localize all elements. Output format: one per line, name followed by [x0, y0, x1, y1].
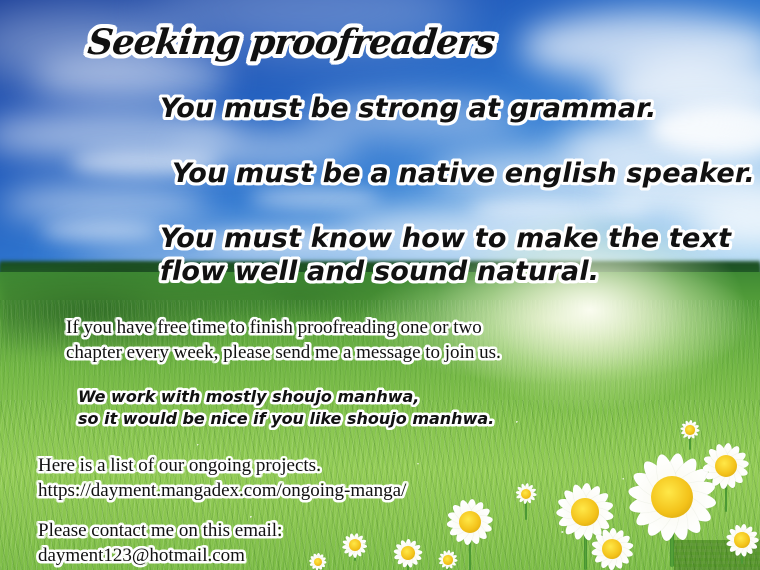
genre-note: We work with mostly shoujo manhwa, so it…	[78, 386, 494, 430]
page-title: Seeking proofreaders	[86, 22, 497, 63]
commitment-paragraph: If you have free time to finish proofrea…	[66, 315, 501, 365]
poster-canvas: Seeking proofreaders You must be strong …	[0, 0, 760, 570]
contact-email-block[interactable]: Please contact me on this email: dayment…	[38, 518, 282, 568]
projects-link-block[interactable]: Here is a list of our ongoing projects. …	[38, 453, 406, 503]
requirement-grammar: You must be strong at grammar.	[160, 93, 656, 124]
requirement-native-speaker: You must be a native english speaker.	[172, 158, 755, 189]
requirement-text-flow: You must know how to make the text flow …	[160, 222, 731, 288]
